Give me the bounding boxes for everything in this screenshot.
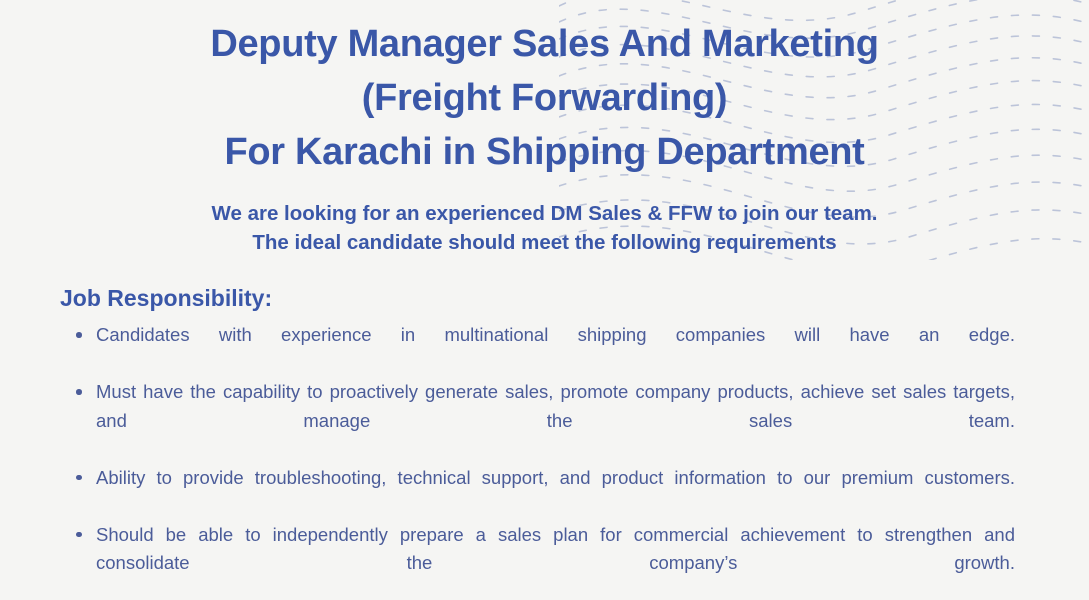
list-item: Must have the capability to proactively … [96,378,1015,464]
intro-text: We are looking for an experienced DM Sal… [0,199,1089,257]
title-line-3: For Karachi in Shipping Department [0,125,1089,179]
bullet-dot-icon [76,332,82,338]
list-item-text: Must have the capability to proactively … [96,378,1015,464]
poster-content: Deputy Manager Sales And Marketing (Frei… [0,0,1089,600]
list-item: Should be able to independently prepare … [96,521,1015,600]
bullet-dot-icon [76,475,82,481]
intro-line-2: The ideal candidate should meet the foll… [0,228,1089,257]
bullet-dot-icon [76,532,82,538]
list-item-text: Should be able to independently prepare … [96,521,1015,600]
list-item-text: Ability to provide troubleshooting, tech… [96,464,1015,521]
list-item: Ability to provide troubleshooting, tech… [96,464,1015,521]
list-item-text: Candidates with experience in multinatio… [96,321,1015,378]
page-title: Deputy Manager Sales And Marketing (Frei… [0,0,1089,179]
section-job-responsibility: Job Responsibility: Candidates with expe… [0,284,1089,600]
title-line-1: Deputy Manager Sales And Marketing [0,17,1089,71]
bullet-dot-icon [76,389,82,395]
responsibility-list: Candidates with experience in multinatio… [0,321,1089,600]
section-heading-responsibility: Job Responsibility: [60,284,1089,312]
title-line-2: (Freight Forwarding) [0,71,1089,125]
job-posting-poster: Deputy Manager Sales And Marketing (Frei… [0,0,1089,600]
list-item: Candidates with experience in multinatio… [96,321,1015,378]
intro-line-1: We are looking for an experienced DM Sal… [0,199,1089,228]
